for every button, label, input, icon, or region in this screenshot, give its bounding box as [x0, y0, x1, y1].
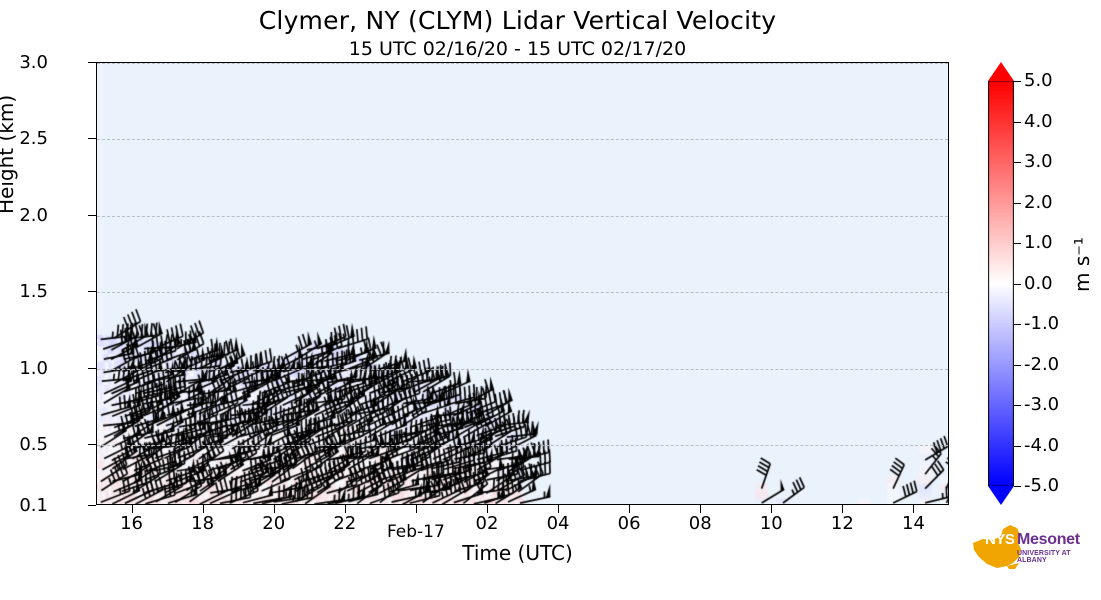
- colorbar-tick-mark: [1014, 486, 1021, 487]
- colorbar[interactable]: -5.0-4.0-3.0-2.0-1.00.01.02.03.04.05.0: [988, 62, 1014, 505]
- x-tick-mark: [487, 505, 488, 513]
- y-tick-mark: [88, 444, 96, 445]
- x-tick-label: 06: [589, 513, 669, 534]
- colorbar-tick-label: 2.0: [1024, 192, 1053, 213]
- colorbar-unit-label: m s⁻¹: [1070, 237, 1094, 292]
- colorbar-extend-top-icon: [988, 62, 1014, 81]
- colorbar-tick-label: -3.0: [1024, 394, 1059, 415]
- logo-mesonet-text: Mesonet: [1017, 531, 1080, 549]
- colorbar-tick-mark: [1014, 81, 1021, 82]
- x-tick-label: 22: [305, 513, 385, 534]
- x-tick-mark: [274, 505, 275, 513]
- colorbar-tick-label: -2.0: [1024, 354, 1059, 375]
- x-tick-label: 14: [873, 513, 953, 534]
- colorbar-tick-mark: [1014, 446, 1021, 447]
- x-tick-mark: [771, 505, 772, 513]
- logo-nys-text: NYS: [985, 531, 1014, 548]
- logo-tagline-text: UNIVERSITY AT ALBANY: [1017, 550, 1095, 564]
- colorbar-tick-mark: [1014, 324, 1021, 325]
- x-tick-label: 02: [447, 513, 527, 534]
- colorbar-tick-mark: [1014, 405, 1021, 406]
- x-tick-mark: [629, 505, 630, 513]
- colorbar-tick-mark: [1014, 122, 1021, 123]
- y-tick-label: 2.5: [0, 128, 48, 149]
- colorbar-tick-label: 5.0: [1024, 70, 1053, 91]
- chart-page: Clymer, NY (CLYM) Lidar Vertical Velocit…: [0, 0, 1101, 600]
- colorbar-tick-label: -1.0: [1024, 313, 1059, 334]
- x-tick-mark: [203, 505, 204, 513]
- x-tick-label: 08: [660, 513, 740, 534]
- y-tick-mark: [88, 215, 96, 216]
- colorbar-gradient: [988, 81, 1014, 486]
- y-axis-label: Height (km): [0, 95, 18, 214]
- y-tick-mark: [88, 62, 96, 63]
- y-tick-mark: [88, 505, 96, 506]
- y-tick-label: 1.0: [0, 358, 48, 379]
- y-tick-label: 0.5: [0, 434, 48, 455]
- y-tick-mark: [88, 368, 96, 369]
- colorbar-tick-mark: [1014, 284, 1021, 285]
- x-tick-label: Feb-17: [376, 522, 456, 542]
- page-subtitle: 15 UTC 02/16/20 - 15 UTC 02/17/20: [0, 38, 1035, 60]
- y-tick-mark: [88, 291, 96, 292]
- x-tick-mark: [132, 505, 133, 513]
- wind-barbs-overlay: [97, 63, 949, 505]
- x-tick-label: 16: [92, 513, 172, 534]
- colorbar-tick-mark: [1014, 243, 1021, 244]
- page-title: Clymer, NY (CLYM) Lidar Vertical Velocit…: [0, 6, 1035, 35]
- x-tick-mark: [700, 505, 701, 513]
- y-tick-label: 0.1: [0, 495, 48, 516]
- colorbar-tick-label: 0.0: [1024, 273, 1053, 294]
- colorbar-tick-label: 3.0: [1024, 151, 1053, 172]
- x-tick-mark: [842, 505, 843, 513]
- nys-mesonet-logo: NYS Mesonet UNIVERSITY AT ALBANY: [963, 519, 1095, 581]
- x-tick-label: 20: [234, 513, 314, 534]
- x-tick-label: 12: [802, 513, 882, 534]
- colorbar-tick-mark: [1014, 162, 1021, 163]
- x-tick-mark: [345, 505, 346, 513]
- colorbar-tick-label: 4.0: [1024, 111, 1053, 132]
- colorbar-tick-label: -4.0: [1024, 435, 1059, 456]
- colorbar-tick-label: -5.0: [1024, 475, 1059, 496]
- y-tick-label: 2.0: [0, 205, 48, 226]
- colorbar-tick-mark: [1014, 203, 1021, 204]
- y-tick-label: 1.5: [0, 281, 48, 302]
- x-tick-label: 18: [163, 513, 243, 534]
- x-tick-label: 10: [731, 513, 811, 534]
- plot-area[interactable]: [96, 62, 949, 505]
- colorbar-tick-mark: [1014, 365, 1021, 366]
- x-tick-mark: [558, 505, 559, 513]
- y-tick-label: 3.0: [0, 52, 48, 73]
- colorbar-extend-bottom-icon: [988, 486, 1014, 505]
- colorbar-tick-label: 1.0: [1024, 232, 1053, 253]
- x-tick-label: 04: [518, 513, 598, 534]
- x-axis-label: Time (UTC): [0, 541, 1035, 565]
- x-tick-mark: [416, 505, 417, 513]
- y-tick-mark: [88, 138, 96, 139]
- x-tick-mark: [913, 505, 914, 513]
